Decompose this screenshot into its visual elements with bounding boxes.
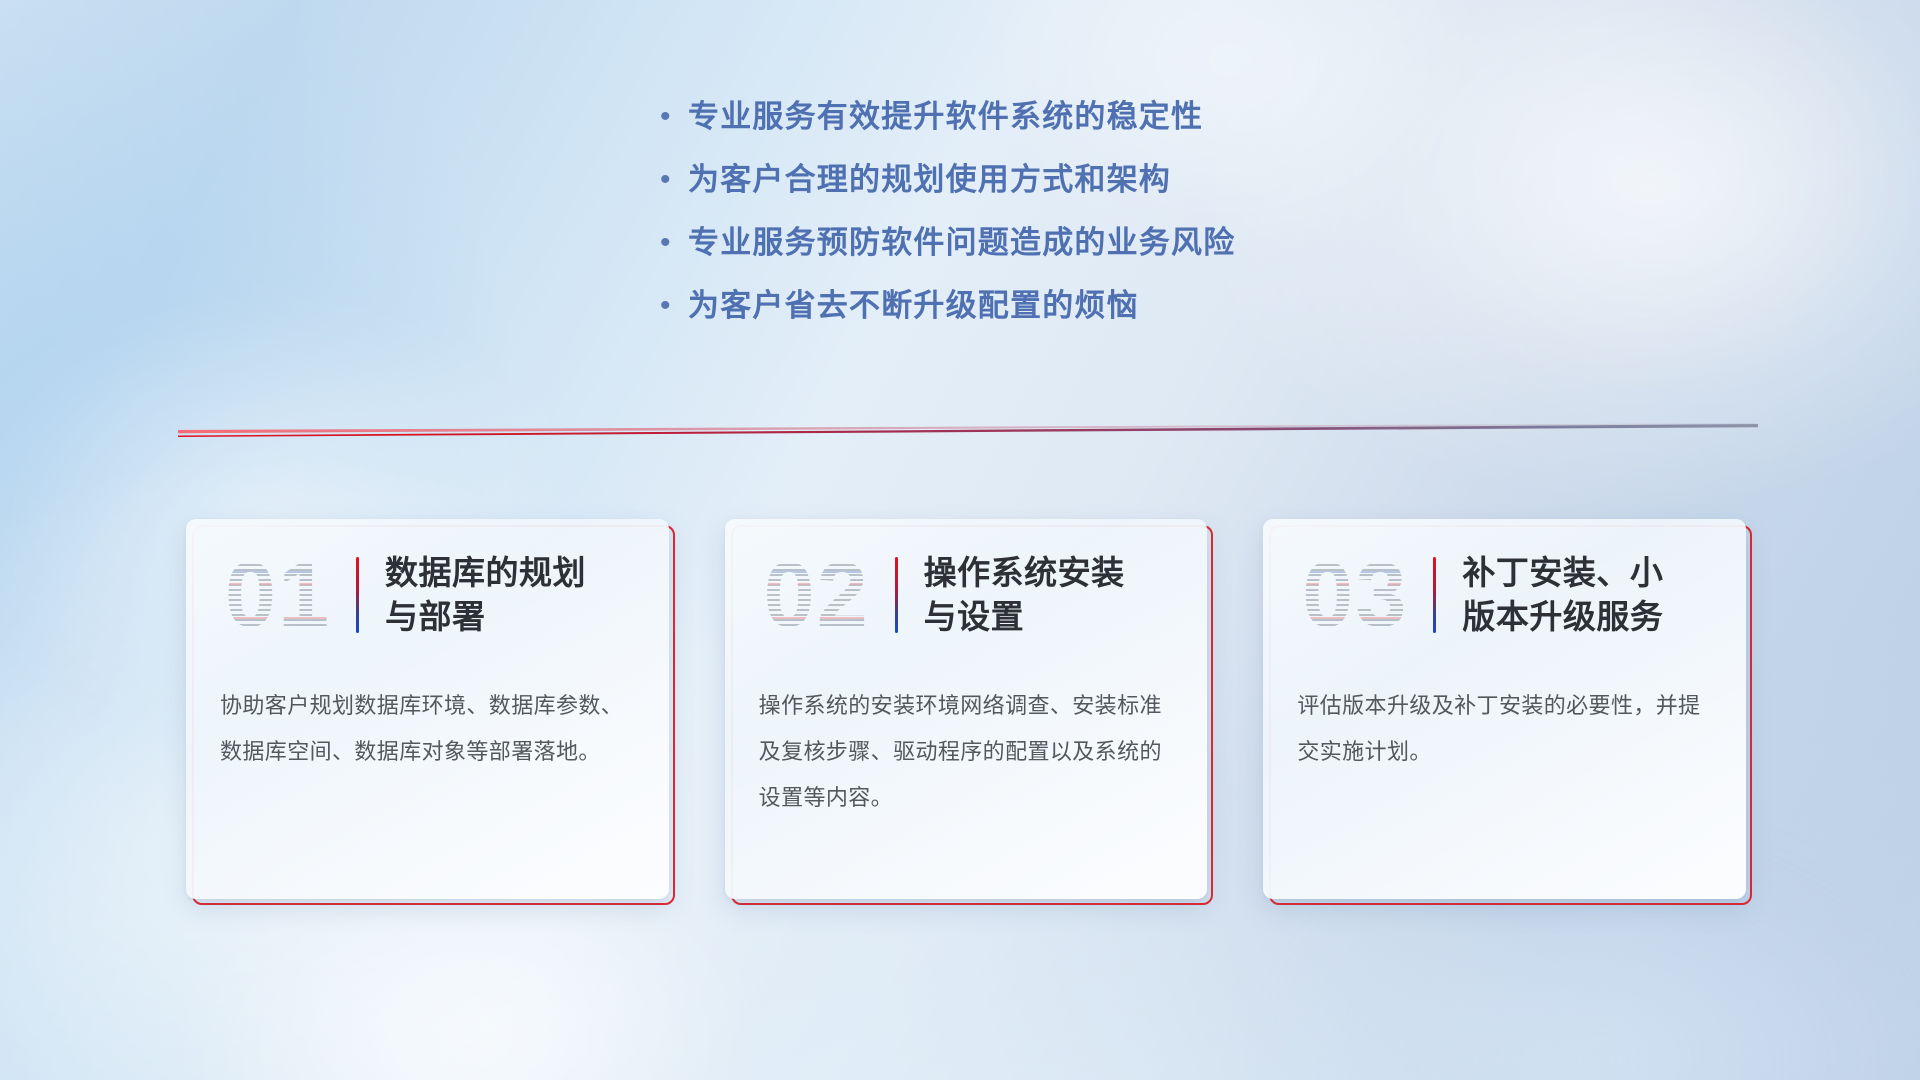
section-divider bbox=[178, 421, 1758, 437]
slide-canvas: • 专业服务有效提升软件系统的稳定性 • 为客户合理的规划使用方式和架构 • 专… bbox=[0, 0, 1920, 1080]
card-number-watermark: 02 02 02 bbox=[747, 549, 887, 641]
card-title-rule bbox=[1433, 557, 1436, 633]
card-number-base: 03 bbox=[1302, 544, 1408, 646]
card-description: 协助客户规划数据库环境、数据库参数、数据库空间、数据库对象等部署落地。 bbox=[186, 671, 669, 775]
bullet-item-label: 为客户省去不断升级配置的烦恼 bbox=[688, 285, 1139, 327]
service-card[interactable]: 01 01 01 数据库的规划 与部署 协助客户规划数据库环境、数据库参数、数据… bbox=[186, 519, 669, 899]
card-description: 操作系统的安装环境网络调查、安装标准及复核步骤、驱动程序的配置以及系统的设置等内… bbox=[725, 671, 1208, 821]
bullet-item-label: 专业服务预防软件问题造成的业务风险 bbox=[688, 222, 1235, 264]
card-title-rule bbox=[895, 557, 898, 633]
service-card[interactable]: 03 03 03 补丁安装、小 版本升级服务 评估版本升级及补丁安装的必要性，并… bbox=[1263, 519, 1746, 899]
card-number-watermark: 01 01 01 bbox=[208, 549, 348, 641]
bullet-dot-icon: • bbox=[660, 222, 688, 264]
bullet-item: • 为客户合理的规划使用方式和架构 bbox=[660, 159, 1420, 201]
card-title-line-1: 补丁安装、小 bbox=[1462, 551, 1736, 595]
card-number-base: 02 bbox=[764, 544, 870, 646]
card-panel: 03 03 03 补丁安装、小 版本升级服务 评估版本升级及补丁安装的必要性，并… bbox=[1263, 519, 1746, 899]
service-card-list: 01 01 01 数据库的规划 与部署 协助客户规划数据库环境、数据库参数、数据… bbox=[186, 519, 1746, 909]
card-description: 评估版本升级及补丁安装的必要性，并提交实施计划。 bbox=[1263, 671, 1746, 775]
card-title: 数据库的规划 与部署 bbox=[385, 551, 669, 639]
card-title-line-2: 与设置 bbox=[924, 595, 1198, 639]
card-title: 操作系统安装 与设置 bbox=[924, 551, 1208, 639]
card-title-line-1: 操作系统安装 bbox=[924, 551, 1198, 595]
card-title-line-2: 与部署 bbox=[385, 595, 659, 639]
card-header: 01 01 01 数据库的规划 与部署 bbox=[186, 519, 669, 671]
card-header: 03 03 03 补丁安装、小 版本升级服务 bbox=[1263, 519, 1746, 671]
card-header: 02 02 02 操作系统安装 与设置 bbox=[725, 519, 1208, 671]
service-card[interactable]: 02 02 02 操作系统安装 与设置 操作系统的安装环境网络调查、安装标准及复… bbox=[725, 519, 1208, 899]
bullet-dot-icon: • bbox=[660, 96, 688, 138]
card-panel: 01 01 01 数据库的规划 与部署 协助客户规划数据库环境、数据库参数、数据… bbox=[186, 519, 669, 899]
benefits-bullet-list: • 专业服务有效提升软件系统的稳定性 • 为客户合理的规划使用方式和架构 • 专… bbox=[660, 96, 1420, 348]
card-panel: 02 02 02 操作系统安装 与设置 操作系统的安装环境网络调查、安装标准及复… bbox=[725, 519, 1208, 899]
bullet-dot-icon: • bbox=[660, 159, 688, 201]
bullet-dot-icon: • bbox=[660, 285, 688, 327]
bullet-item-label: 专业服务有效提升软件系统的稳定性 bbox=[688, 96, 1203, 138]
card-title-line-2: 版本升级服务 bbox=[1462, 595, 1736, 639]
bullet-item: • 专业服务预防软件问题造成的业务风险 bbox=[660, 222, 1420, 264]
card-number-watermark: 03 03 03 bbox=[1285, 549, 1425, 641]
card-title-line-1: 数据库的规划 bbox=[385, 551, 659, 595]
card-title: 补丁安装、小 版本升级服务 bbox=[1462, 551, 1746, 639]
card-title-rule bbox=[356, 557, 359, 633]
bullet-item: • 专业服务有效提升软件系统的稳定性 bbox=[660, 96, 1420, 138]
bullet-item: • 为客户省去不断升级配置的烦恼 bbox=[660, 285, 1420, 327]
bullet-item-label: 为客户合理的规划使用方式和架构 bbox=[688, 159, 1171, 201]
card-number-base: 01 bbox=[225, 544, 331, 646]
